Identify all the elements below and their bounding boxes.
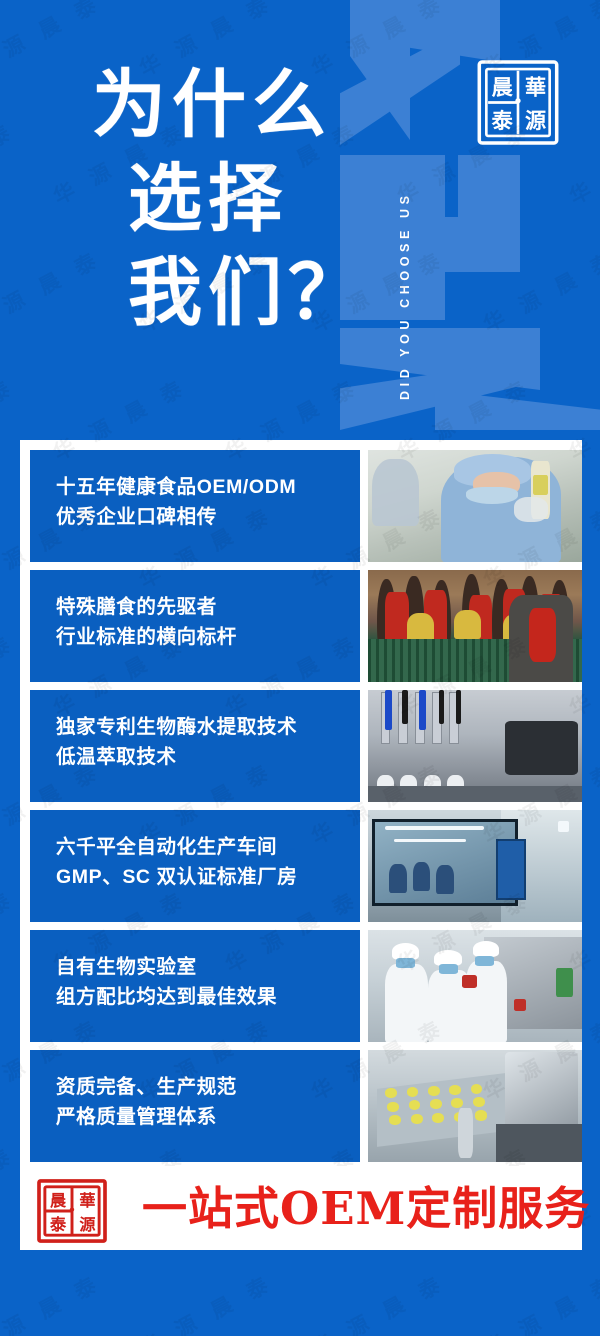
feature-card[interactable]: 资质完备、生产规范 严格质量管理体系	[30, 1050, 582, 1162]
feature-card-photo	[368, 810, 582, 922]
feature-card-text: 特殊膳食的先驱者 行业标准的横向标杆	[30, 570, 360, 682]
feature-card-line-2: 行业标准的横向标杆	[56, 622, 360, 652]
feature-card-line-2: 优秀企业口碑相传	[56, 502, 360, 532]
feature-card-photo	[368, 690, 582, 802]
feature-card-line-1: 六千平全自动化生产车间	[56, 832, 360, 862]
feature-card-line-1: 十五年健康食品OEM/ODM	[56, 472, 360, 502]
feature-card-line-2: 严格质量管理体系	[56, 1102, 360, 1132]
feature-card[interactable]: 六千平全自动化生产车间 GMP、SC 双认证标准厂房	[30, 810, 582, 922]
feature-card-photo	[368, 450, 582, 562]
feature-card-text: 自有生物实验室 组方配比均达到最佳效果	[30, 930, 360, 1042]
watermark-tile: 华 源 晨 泰	[478, 1267, 600, 1336]
svg-text:晨: 晨	[50, 1191, 67, 1210]
feature-card-line-1: 资质完备、生产规范	[56, 1072, 360, 1102]
feature-card[interactable]: 十五年健康食品OEM/ODM 优秀企业口碑相传	[30, 450, 582, 562]
svg-text:源: 源	[79, 1215, 96, 1234]
vertical-english-subtitle: DID YOU CHOOSE US	[398, 28, 422, 400]
svg-text:華: 華	[525, 75, 546, 100]
title-line-3: 我们？	[92, 246, 392, 340]
watermark-tile: 华 源 晨 泰	[134, 1267, 279, 1336]
feature-card-photo	[368, 570, 582, 682]
feature-card-line-1: 特殊膳食的先驱者	[56, 592, 360, 622]
company-seal-logo-white: 晨 華 泰 源	[474, 55, 562, 150]
feature-card-text: 十五年健康食品OEM/ODM 优秀企业口碑相传	[30, 450, 360, 562]
bottom-banner-text: 一站式OEM定制服务	[142, 1186, 590, 1231]
svg-text:泰: 泰	[492, 108, 514, 133]
svg-text:華: 華	[79, 1191, 95, 1210]
watermark-tile: 华 源 晨 泰	[0, 627, 20, 723]
poster-header: 为什么 选择 我们？ DID YOU CHOOSE US 晨 華 泰 源	[0, 0, 600, 430]
watermark-tile: 华 源 晨 泰	[0, 1267, 106, 1336]
svg-text:源: 源	[525, 108, 546, 133]
watermark-tile: 华 源 晨 泰	[306, 1267, 451, 1336]
feature-card-line-1: 独家专利生物酶水提取技术	[56, 712, 360, 742]
feature-card-line-2: GMP、SC 双认证标准厂房	[56, 862, 360, 892]
page-title: 为什么 选择 我们？	[92, 58, 392, 340]
feature-card-text: 六千平全自动化生产车间 GMP、SC 双认证标准厂房	[30, 810, 360, 922]
feature-card-text: 资质完备、生产规范 严格质量管理体系	[30, 1050, 360, 1162]
company-seal-logo-red: 晨 華 泰 源	[35, 1178, 109, 1244]
poster-root: 为什么 选择 我们？ DID YOU CHOOSE US 晨 華 泰 源	[0, 0, 600, 1336]
svg-text:晨: 晨	[492, 75, 514, 100]
feature-card-list: 十五年健康食品OEM/ODM 优秀企业口碑相传 特殊膳食的先驱者 行业标准的横向…	[30, 450, 582, 1162]
feature-card-text: 独家专利生物酶水提取技术 低温萃取技术	[30, 690, 360, 802]
feature-card-line-2: 低温萃取技术	[56, 742, 360, 772]
title-line-1: 为什么	[92, 58, 392, 152]
feature-card[interactable]: 特殊膳食的先驱者 行业标准的横向标杆	[30, 570, 582, 682]
watermark-tile: 华 源 晨 泰	[0, 1139, 20, 1235]
title-line-2: 选择	[92, 152, 392, 246]
svg-text:泰: 泰	[49, 1215, 67, 1234]
feature-card-photo	[368, 930, 582, 1042]
feature-card-line-1: 自有生物实验室	[56, 952, 360, 982]
feature-card-line-2: 组方配比均达到最佳效果	[56, 982, 360, 1012]
feature-card-photo	[368, 1050, 582, 1162]
watermark-tile: 华 源 晨 泰	[0, 883, 20, 979]
feature-card[interactable]: 自有生物实验室 组方配比均达到最佳效果	[30, 930, 582, 1042]
feature-card[interactable]: 独家专利生物酶水提取技术 低温萃取技术	[30, 690, 582, 802]
